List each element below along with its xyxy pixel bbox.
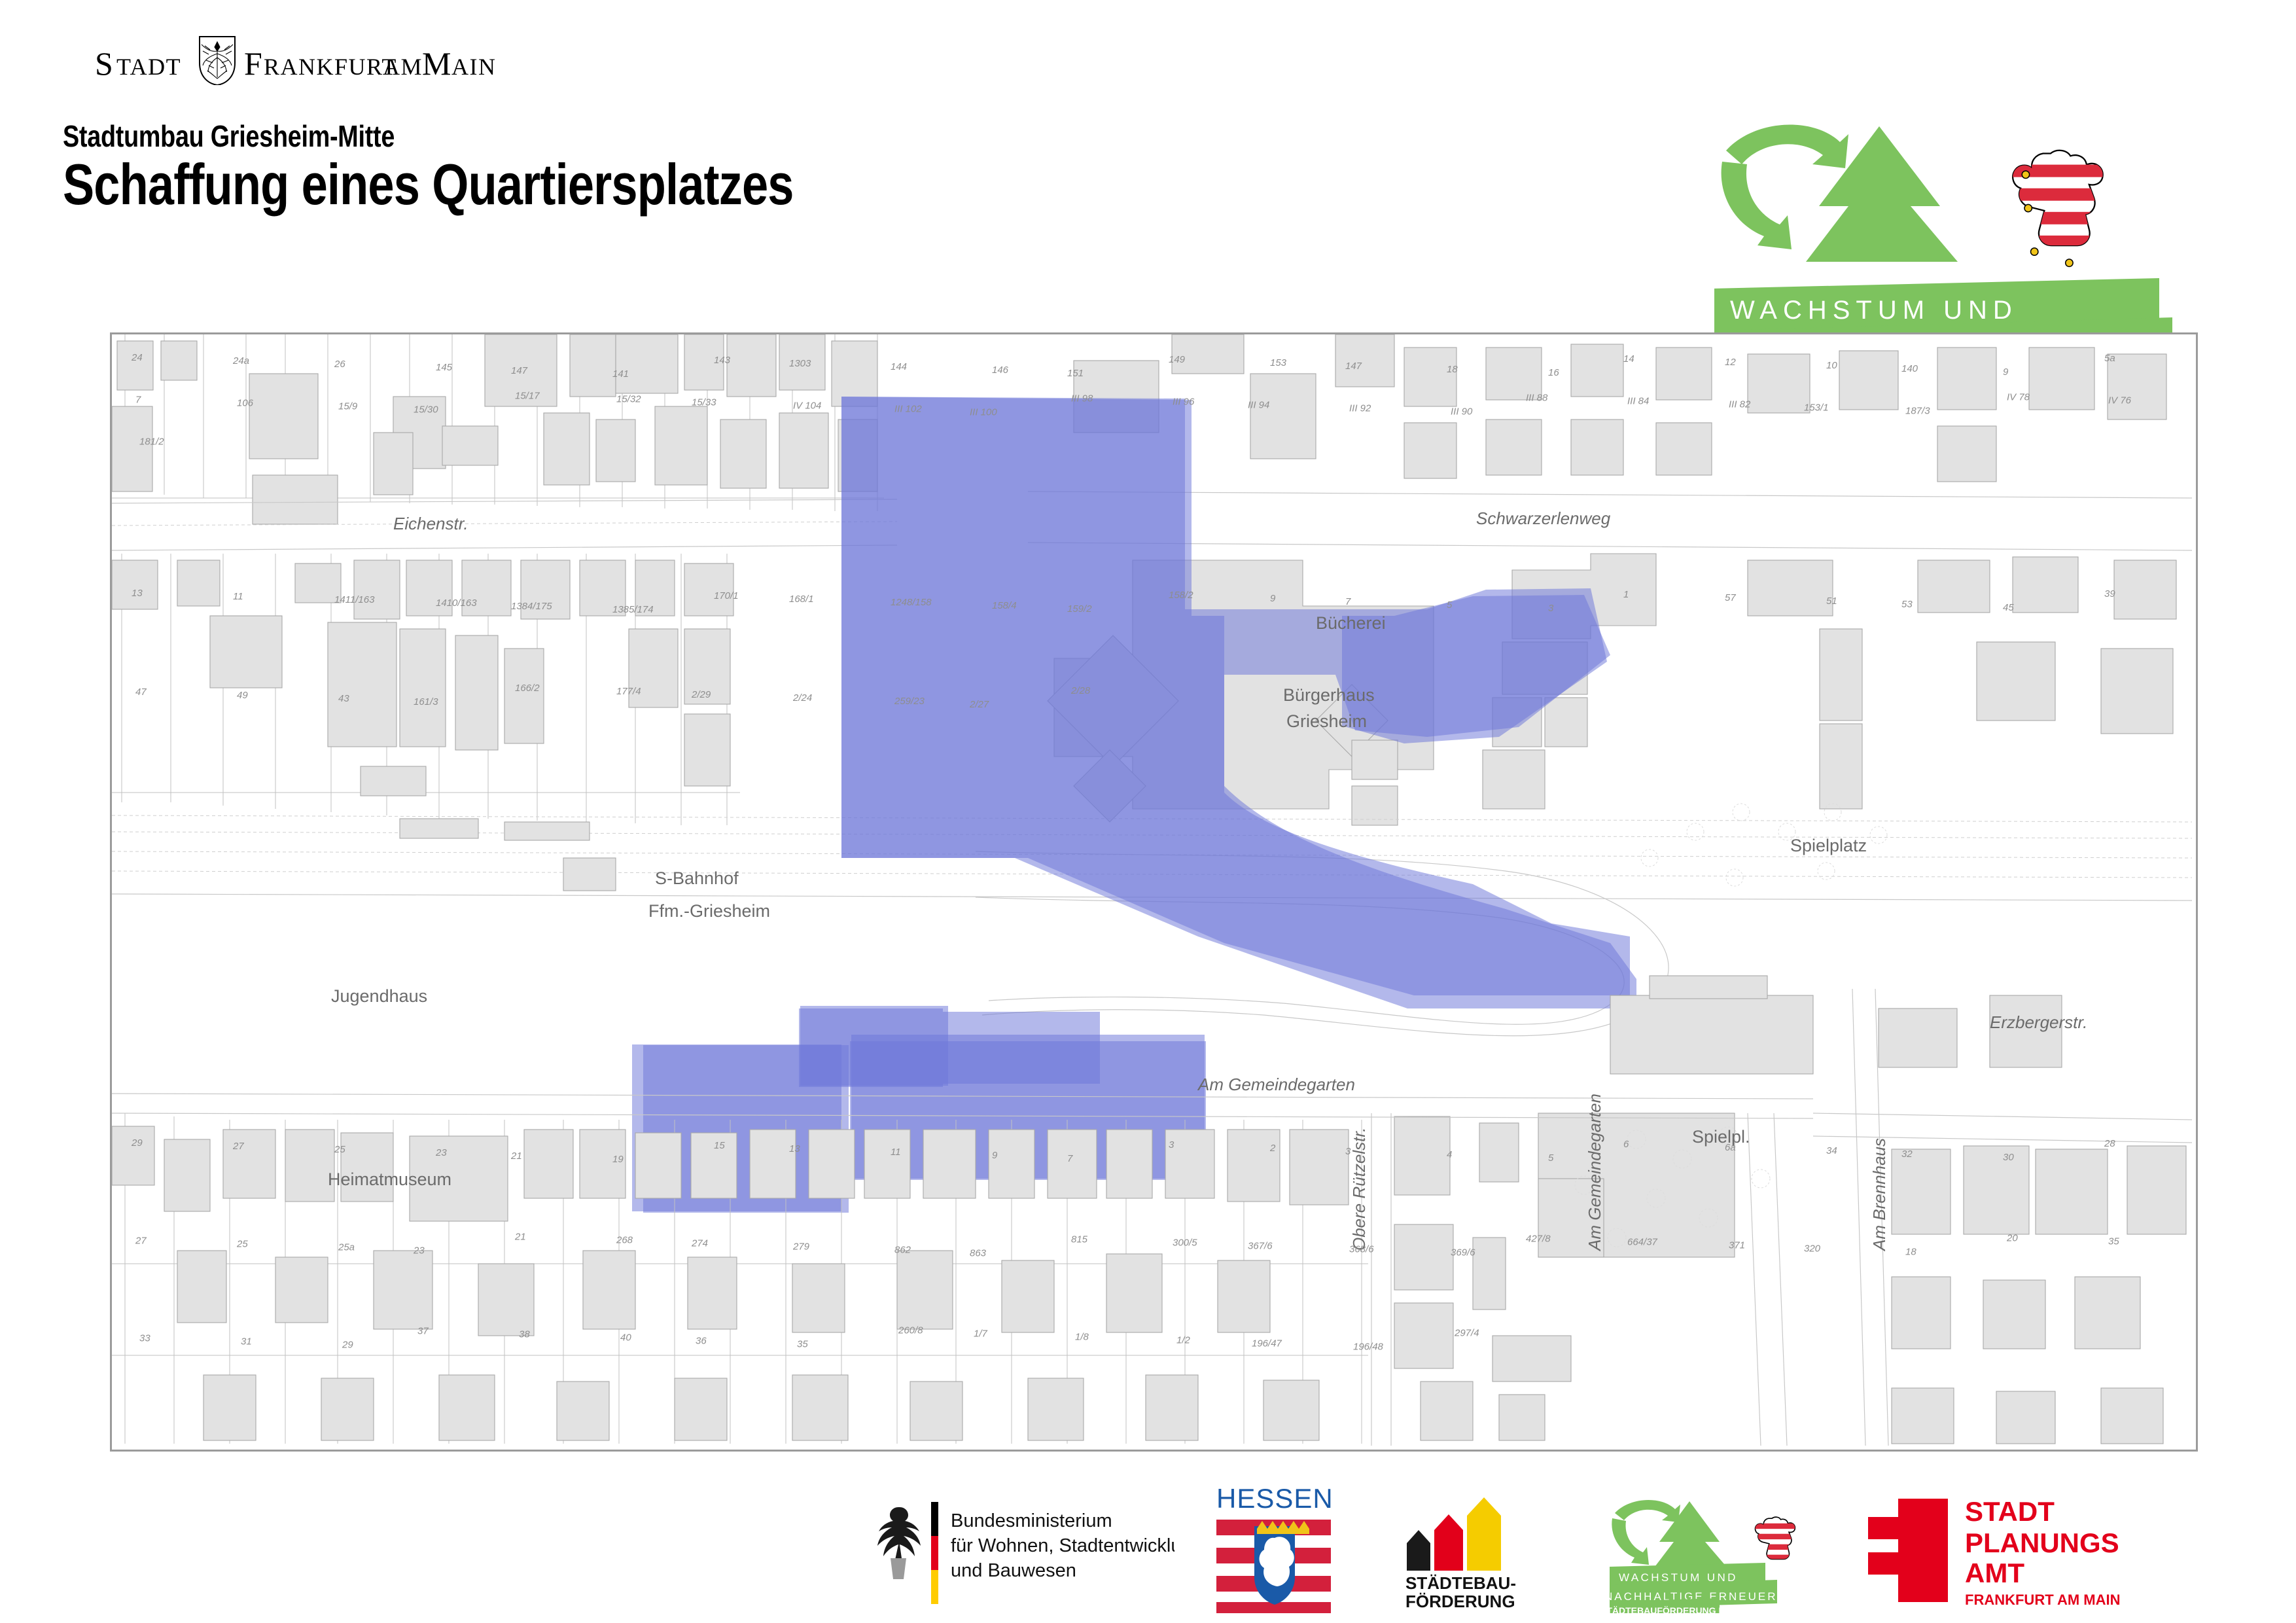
parcel-number: IV 104: [793, 400, 821, 411]
parcel-number: 147: [511, 365, 528, 376]
bundesadler-icon: [877, 1507, 921, 1579]
parcel-number: 1411/163: [334, 594, 375, 605]
place-label-heimatmuseum: Heimatmuseum: [328, 1169, 451, 1189]
bmwsb-line2: für Wohnen, Stadtentwicklung: [951, 1535, 1174, 1556]
parcel-number: 158/4: [992, 600, 1017, 611]
parcel-number: 158/2: [1169, 590, 1193, 601]
parcel-number: 161/3: [414, 696, 438, 707]
parcel-number: 18: [1447, 364, 1458, 375]
parcel-number: 369/6: [1451, 1247, 1475, 1258]
city-logo: S TADT F RANKFURT AM M AIN: [95, 34, 514, 85]
stadtplanungsamt-logo: STADT PLANUNGS AMT FRANKFURT AM MAIN: [1855, 1492, 2156, 1610]
parcel-number: 7: [135, 394, 141, 405]
parcel-number: 15: [714, 1140, 725, 1151]
parcel-number: III 84: [1627, 395, 1649, 406]
parcel-number: 15/30: [414, 404, 438, 415]
place-label-ffm-griesheim: Ffm.-Griesheim: [648, 901, 770, 921]
parcel-number: III 92: [1349, 402, 1371, 414]
parcel-number: 32: [1901, 1149, 1913, 1160]
parcel-number: 15/33: [692, 397, 716, 408]
place-label-buecherei: Bücherei: [1316, 613, 1386, 633]
parcel-number: 181/2: [139, 437, 164, 448]
parcel-number: 20: [2006, 1232, 2018, 1243]
parcel-number: 45: [2003, 602, 2014, 613]
parcel-number: 371: [1729, 1240, 1745, 1251]
parcel-number: 427/8: [1526, 1233, 1551, 1244]
parcel-number: 6a: [1725, 1142, 1736, 1153]
street-label-erzbergerstr: Erzbergerstr.: [1990, 1012, 2087, 1032]
place-label-spielplatz: Spielplatz: [1790, 836, 1867, 855]
stadtplanung-line3: AMT: [1965, 1558, 2024, 1588]
parcel-number: 29: [342, 1340, 353, 1351]
parcel-number: 149: [1169, 354, 1186, 365]
parcel-number: 170/1: [714, 590, 739, 601]
parcel-number: III 82: [1729, 399, 1751, 410]
parcel-number: 34: [1826, 1145, 1837, 1156]
parcel-number: 166/2: [515, 683, 540, 694]
parcel-number: 25: [334, 1144, 345, 1155]
map-canvas: Eichenstr. Schwarzerlenweg Am Gemeindega…: [112, 334, 2192, 1446]
parcel-number: 1: [1623, 589, 1629, 600]
parcel-number: 53: [1901, 599, 1913, 610]
parcel-number: 1248/158: [891, 597, 932, 608]
parcel-number: 159/2: [1067, 603, 1092, 615]
staedtebau-line2: FÖRDERUNG: [1405, 1592, 1515, 1611]
svg-text:WACHSTUM UND: WACHSTUM UND: [1730, 296, 2018, 325]
parcel-number: 1/8: [1075, 1332, 1089, 1343]
place-label-buergerhaus: Bürgerhaus: [1283, 685, 1375, 705]
parcel-number: 297/4: [1454, 1328, 1479, 1339]
three-houses-icon: [1407, 1497, 1501, 1571]
place-label-s-bahnhof: S-Bahnhof: [655, 868, 739, 888]
parcel-number: 13: [132, 588, 143, 599]
parcel-number: 15/17: [515, 390, 540, 401]
parcel-number: 6: [1623, 1139, 1629, 1150]
parcel-number: 27: [135, 1235, 147, 1246]
parcel-number: 30: [2003, 1152, 2014, 1163]
parcel-number: 106: [237, 397, 254, 408]
parcel-number: 39: [2104, 588, 2115, 599]
street-label-am-gemeindegarten-2: Am Gemeindegarten: [1585, 1094, 1604, 1252]
staedtebau-line1: STÄDTEBAU-: [1405, 1573, 1516, 1593]
staedtebaufoerderung-logo: STÄDTEBAU- FÖRDERUNG von Bund, Ländern u…: [1400, 1492, 1551, 1613]
parcel-number: 15/9: [338, 401, 358, 412]
parcel-number: 40: [620, 1332, 631, 1344]
parcel-number: 1/2: [1176, 1335, 1191, 1346]
parcel-number: 5: [1447, 599, 1453, 611]
parcel-number: 2/29: [691, 689, 711, 700]
parcel-number: 168/1: [789, 594, 814, 605]
parcel-number: 2/27: [969, 699, 989, 710]
parcel-number: 49: [237, 690, 248, 701]
parcel-number: III 88: [1526, 392, 1548, 403]
program-logo-small: WACHSTUM UND NACHHALTIGE ERNEUERUNG STÄD…: [1610, 1499, 1826, 1610]
parcel-number: 3: [1548, 603, 1554, 614]
parcel-number: 664/37: [1627, 1236, 1658, 1247]
parcel-number: III 98: [1071, 393, 1093, 404]
parcel-number: III 94: [1248, 399, 1269, 410]
svg-text:S: S: [95, 45, 114, 82]
parcel-number: 141: [612, 368, 629, 380]
parcel-number: 368/6: [1349, 1243, 1374, 1255]
parcel-number: III 96: [1173, 396, 1195, 407]
parcel-number: III 100: [970, 406, 997, 418]
parcel-number: 37: [417, 1326, 429, 1337]
street-label-eichenstr: Eichenstr.: [393, 514, 468, 533]
parcel-number: 16: [1548, 367, 1559, 378]
stadtplanung-line2: PLANUNGS: [1965, 1527, 2119, 1558]
parcel-number: 196/47: [1252, 1338, 1282, 1349]
parcel-number: IV 76: [2108, 395, 2132, 406]
recycle-arrow-icon: [1722, 124, 1848, 249]
parcel-number: 5: [1548, 1152, 1554, 1164]
parcel-number: 23: [413, 1245, 425, 1256]
parcel-number: 815: [1071, 1234, 1088, 1245]
parcel-number: 144: [891, 361, 907, 372]
parcel-number: 9: [992, 1150, 998, 1161]
parcel-number: 187/3: [1905, 405, 1930, 416]
parcel-number: 11: [233, 591, 243, 602]
svg-text:M: M: [422, 45, 451, 82]
bmwsb-line1: Bundesministerium: [951, 1510, 1112, 1531]
parcel-number: 147: [1345, 361, 1362, 372]
parcel-number: 259/23: [894, 696, 925, 707]
parcel-number: 300/5: [1173, 1237, 1197, 1248]
parcel-number: 146: [992, 365, 1009, 376]
parcel-number: 19: [612, 1154, 624, 1165]
parcel-number: 35: [2108, 1236, 2119, 1247]
parcel-number: 27: [232, 1141, 244, 1152]
parcel-number: 151: [1067, 368, 1084, 379]
parcel-number: IV 78: [2007, 391, 2030, 402]
place-label-griesheim: Griesheim: [1286, 711, 1367, 731]
parcel-number: 7: [1067, 1153, 1073, 1164]
parcel-number: 25: [236, 1238, 248, 1249]
parcel-number: 9: [1270, 593, 1276, 604]
parcel-number: 7: [1345, 596, 1351, 607]
parcel-number: 15/32: [616, 393, 641, 404]
parcel-number: 1410/163: [436, 597, 477, 609]
svg-text:F: F: [244, 45, 262, 82]
parcel-number: 18: [1905, 1246, 1916, 1257]
project-subtitle: Stadtumbau Griesheim-Mitte: [63, 121, 395, 151]
parcel-number: 153/1: [1804, 402, 1829, 413]
parcel-number: 196/48: [1353, 1342, 1384, 1353]
parcel-number: 863: [970, 1247, 987, 1258]
parcel-number: 5a: [2104, 353, 2115, 364]
parcel-number: 2/24: [792, 692, 812, 704]
parcel-number: 2: [1269, 1143, 1276, 1154]
hessen-logo: HESSEN: [1214, 1486, 1341, 1613]
street-label-obere-ruetzelstr: Obere Rützelstr.: [1349, 1128, 1369, 1251]
parcel-number: 21: [510, 1150, 522, 1162]
street-label-am-gemeindegarten: Am Gemeindegarten: [1197, 1075, 1355, 1094]
parcel-number: 35: [797, 1339, 808, 1350]
parcel-number: 260/8: [898, 1325, 923, 1336]
parcel-number: 367/6: [1248, 1240, 1273, 1251]
svg-text:AM: AM: [383, 54, 423, 80]
parcel-number: 862: [894, 1244, 911, 1255]
parcel-number: 2/28: [1070, 685, 1091, 696]
parcel-number: 57: [1725, 592, 1736, 603]
parcel-number: 26: [334, 359, 345, 370]
parcel-number: III 102: [894, 403, 922, 414]
parcel-number: 43: [338, 693, 349, 704]
stadtplanungsamt-mark-icon: [1868, 1499, 1948, 1602]
bmwsb-line3: und Bauwesen: [951, 1560, 1076, 1581]
parcel-number: 31: [241, 1336, 252, 1347]
hessen-lion-icon-small: [1755, 1517, 1810, 1571]
parcel-number: 23: [435, 1147, 447, 1158]
parcel-number: 21: [514, 1231, 526, 1242]
parcel-number: 24: [131, 352, 143, 363]
parcel-number: 140: [1901, 363, 1918, 374]
parcel-number: 36: [696, 1336, 707, 1347]
svg-text:AIN: AIN: [451, 54, 496, 80]
svg-text:TADT: TADT: [116, 54, 181, 80]
svg-text:STÄDTEBAUFÖRDERUNG HESSEN: STÄDTEBAUFÖRDERUNG HESSEN: [1610, 1605, 1756, 1613]
parcel-number: 1385/174: [612, 604, 654, 615]
parcel-number: 47: [135, 687, 147, 698]
stadtplanung-line1: STADT: [1965, 1496, 2055, 1527]
parcel-number: 13: [789, 1143, 800, 1154]
hessen-lion-icon: [2012, 151, 2136, 272]
bmwsb-logo: Bundesministerium für Wohnen, Stadtentwi…: [867, 1495, 1174, 1610]
parcel-number: 274: [691, 1238, 708, 1249]
parcel-number: 1384/175: [511, 601, 552, 612]
parcel-number: 279: [792, 1241, 810, 1252]
parcel-number: 14: [1623, 353, 1634, 365]
place-label-spielpl: Spielpl.: [1692, 1127, 1750, 1147]
parcel-number: 153: [1270, 357, 1287, 368]
hessen-wordmark: HESSEN: [1216, 1486, 1333, 1514]
cadastral-map[interactable]: Eichenstr. Schwarzerlenweg Am Gemeindega…: [110, 332, 2198, 1452]
parcel-number: 268: [616, 1234, 633, 1245]
parcel-number: 12: [1725, 357, 1736, 368]
page-title: Schaffung eines Quartiersplatzes: [63, 156, 794, 213]
parcel-number: 3: [1345, 1146, 1351, 1157]
parcel-number: 24a: [232, 355, 249, 366]
parcel-number: 29: [131, 1137, 143, 1149]
place-label-jugendhaus: Jugendhaus: [331, 986, 427, 1006]
frankfurt-eagle-icon: [200, 37, 235, 85]
parcel-number: 28: [2104, 1138, 2115, 1149]
parcel-number: 177/4: [616, 686, 641, 697]
parcel-number: 10: [1826, 360, 1837, 371]
stadtplanung-line4: FRANKFURT AM MAIN: [1965, 1592, 2120, 1608]
parcel-number: 1/7: [974, 1329, 988, 1340]
parcel-number: 38: [519, 1329, 530, 1340]
parcel-number: 9: [2003, 366, 2009, 378]
parcel-number: 11: [891, 1147, 901, 1158]
parcel-number: 51: [1826, 596, 1837, 607]
stadt-frankfurt-wordmark: S TADT F RANKFURT AM M AIN: [95, 45, 496, 82]
svg-text:RANKFURT: RANKFURT: [264, 54, 397, 80]
parcel-number: 4: [1447, 1149, 1452, 1160]
parcel-number: 1303: [789, 358, 811, 369]
parcel-number: 145: [436, 362, 453, 373]
parcel-number: 33: [139, 1333, 150, 1344]
street-label-am-brennhaus: Am Brennhaus: [1869, 1138, 1889, 1252]
parcel-number: III 90: [1451, 406, 1473, 417]
parcel-number: 3: [1169, 1139, 1174, 1150]
parcel-number: 143: [714, 355, 731, 366]
parcel-number: 25a: [338, 1241, 355, 1253]
parcel-number: 320: [1804, 1243, 1821, 1254]
street-label-schwarzerlenweg: Schwarzerlenweg: [1476, 508, 1611, 528]
